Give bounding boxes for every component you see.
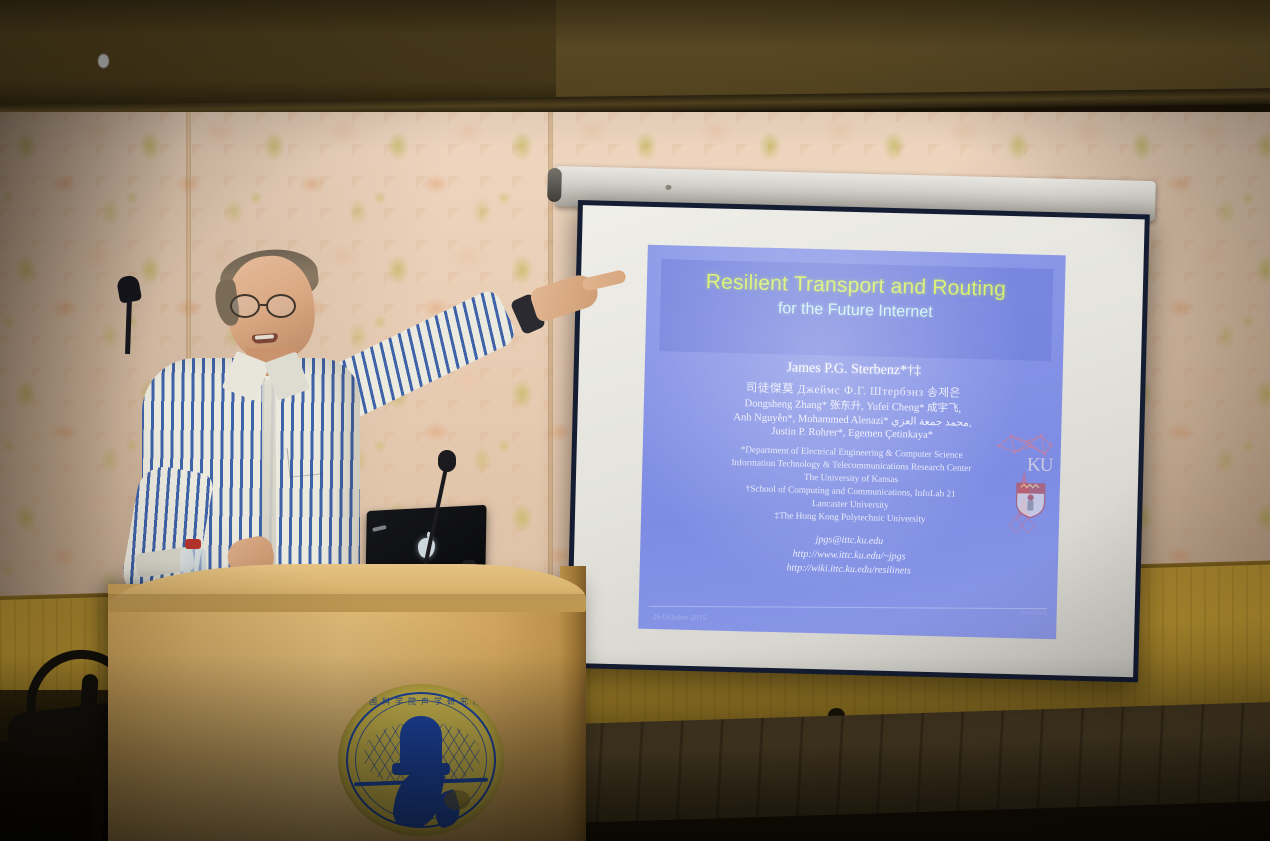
chair-post <box>91 740 107 841</box>
lancaster-crest-logo-icon <box>1015 482 1046 519</box>
glasses-left-lens-icon <box>230 294 260 318</box>
projected-slide: Resilient Transport and Routing for the … <box>638 245 1066 639</box>
slide-footer-label: ResiliNets <box>1020 609 1047 617</box>
gooseneck-microphone-head <box>438 450 456 472</box>
screen-surface: Resilient Transport and Routing for the … <box>571 205 1144 677</box>
glasses-right-lens-icon <box>266 294 296 318</box>
bottle-cap <box>185 539 201 549</box>
glasses-bridge <box>260 304 268 306</box>
emblem-chinese-text: 中国科学院声学研究所 <box>338 696 504 707</box>
slide-date: 26 October 2015 <box>652 612 706 622</box>
slide-contact-urls: jpgs@ittc.ku.edu http://www.ittc.ku.edu/… <box>640 529 1059 583</box>
slide-footer-rule <box>649 606 1047 609</box>
podium-top-shading <box>108 594 586 612</box>
screen-case-end-cap <box>547 168 562 202</box>
projection-screen: Resilient Transport and Routing for the … <box>566 200 1150 682</box>
presentation-photo-scene: Resilient Transport and Routing for the … <box>0 0 1270 841</box>
podium <box>108 584 586 841</box>
upper-wall-panel-left <box>0 0 560 112</box>
shirt-pocket <box>287 444 324 477</box>
emblem-bell-icon <box>400 716 442 768</box>
screen-case-screw <box>665 185 671 190</box>
podium-emblem: 中国科学院声学研究所 <box>338 684 504 836</box>
wall-mark <box>98 54 109 68</box>
presenter-teeth <box>255 334 274 339</box>
upper-wall-panel-right <box>556 0 1270 104</box>
emblem-wear-spot <box>444 790 470 810</box>
laptop-lid-glint <box>372 525 386 532</box>
